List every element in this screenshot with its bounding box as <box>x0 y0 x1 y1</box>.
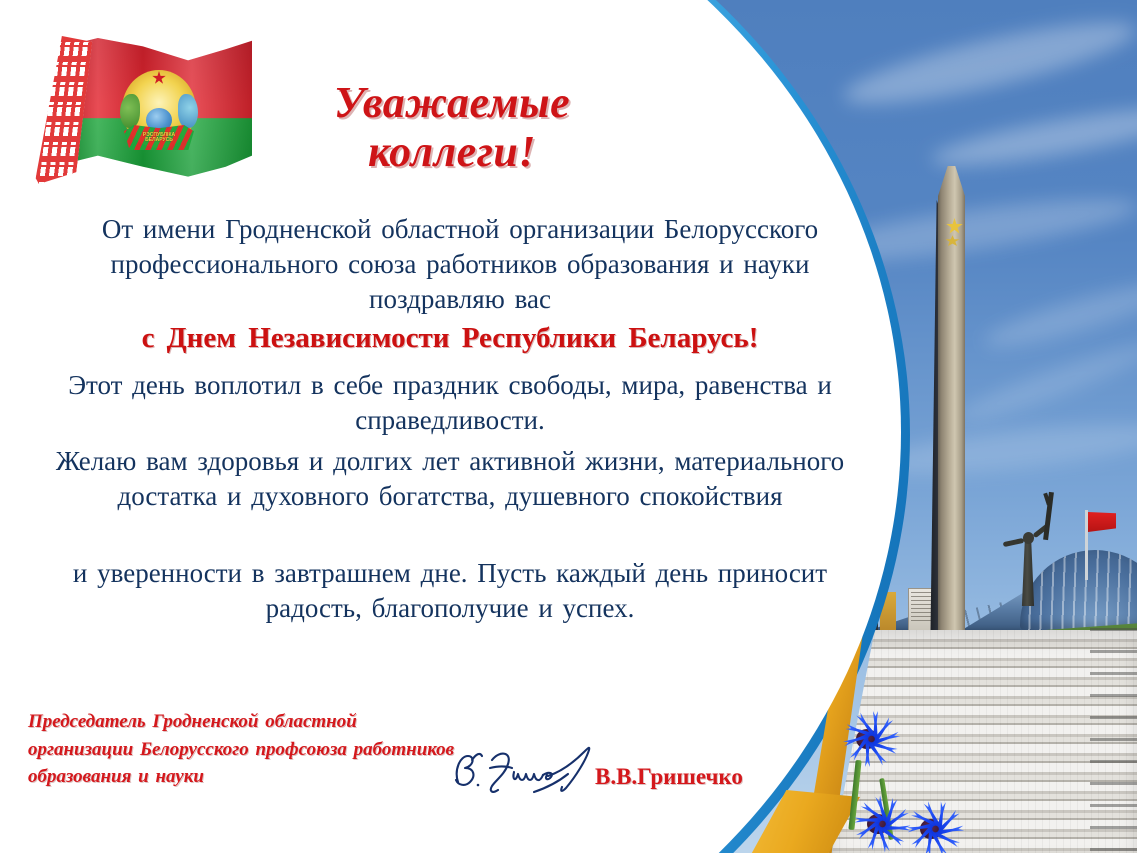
greeting-paragraph-2: Этот день воплотил в себе праздник свобо… <box>40 368 860 438</box>
cloud-wisp <box>980 273 1137 357</box>
handwritten-signature-icon <box>448 730 613 800</box>
greeting-paragraph-3: Желаю вам здоровья и долгих лет активной… <box>40 444 860 514</box>
glass-dome-rays <box>1020 550 1137 630</box>
soldier-statue <box>1020 540 1036 606</box>
stairs-handrail <box>1090 628 1137 853</box>
cloud-wisp <box>929 98 1137 177</box>
independence-day-highlight: с Днем Независимости Республики Беларусь… <box>20 322 880 355</box>
greeting-paragraph-4: и уверенности в завтрашнем дне. Пусть ка… <box>40 556 860 626</box>
signatory-title: Председатель Гродненской областной орган… <box>28 708 458 791</box>
signatory-name: В.В.Гришечко <box>595 764 743 790</box>
statue-head <box>1023 532 1034 544</box>
flagpole <box>1085 510 1088 580</box>
cornflower-icon <box>898 796 964 853</box>
title-line-2: коллеги! <box>262 127 642 176</box>
page-title: Уважаемые коллеги! <box>262 78 642 177</box>
statue-arm <box>1003 538 1025 547</box>
cloud-wisp <box>952 335 1137 431</box>
red-flag-icon <box>1088 512 1116 532</box>
greeting-card: РЭСПУБЛІКА БЕЛАРУСЬ Уважаемые коллеги! О… <box>0 0 1137 853</box>
title-line-1: Уважаемые <box>262 78 642 127</box>
card-text-content: Уважаемые коллеги! От имени Гродненской … <box>0 0 900 853</box>
greeting-paragraph-1: От имени Гродненской областной организац… <box>60 212 860 317</box>
